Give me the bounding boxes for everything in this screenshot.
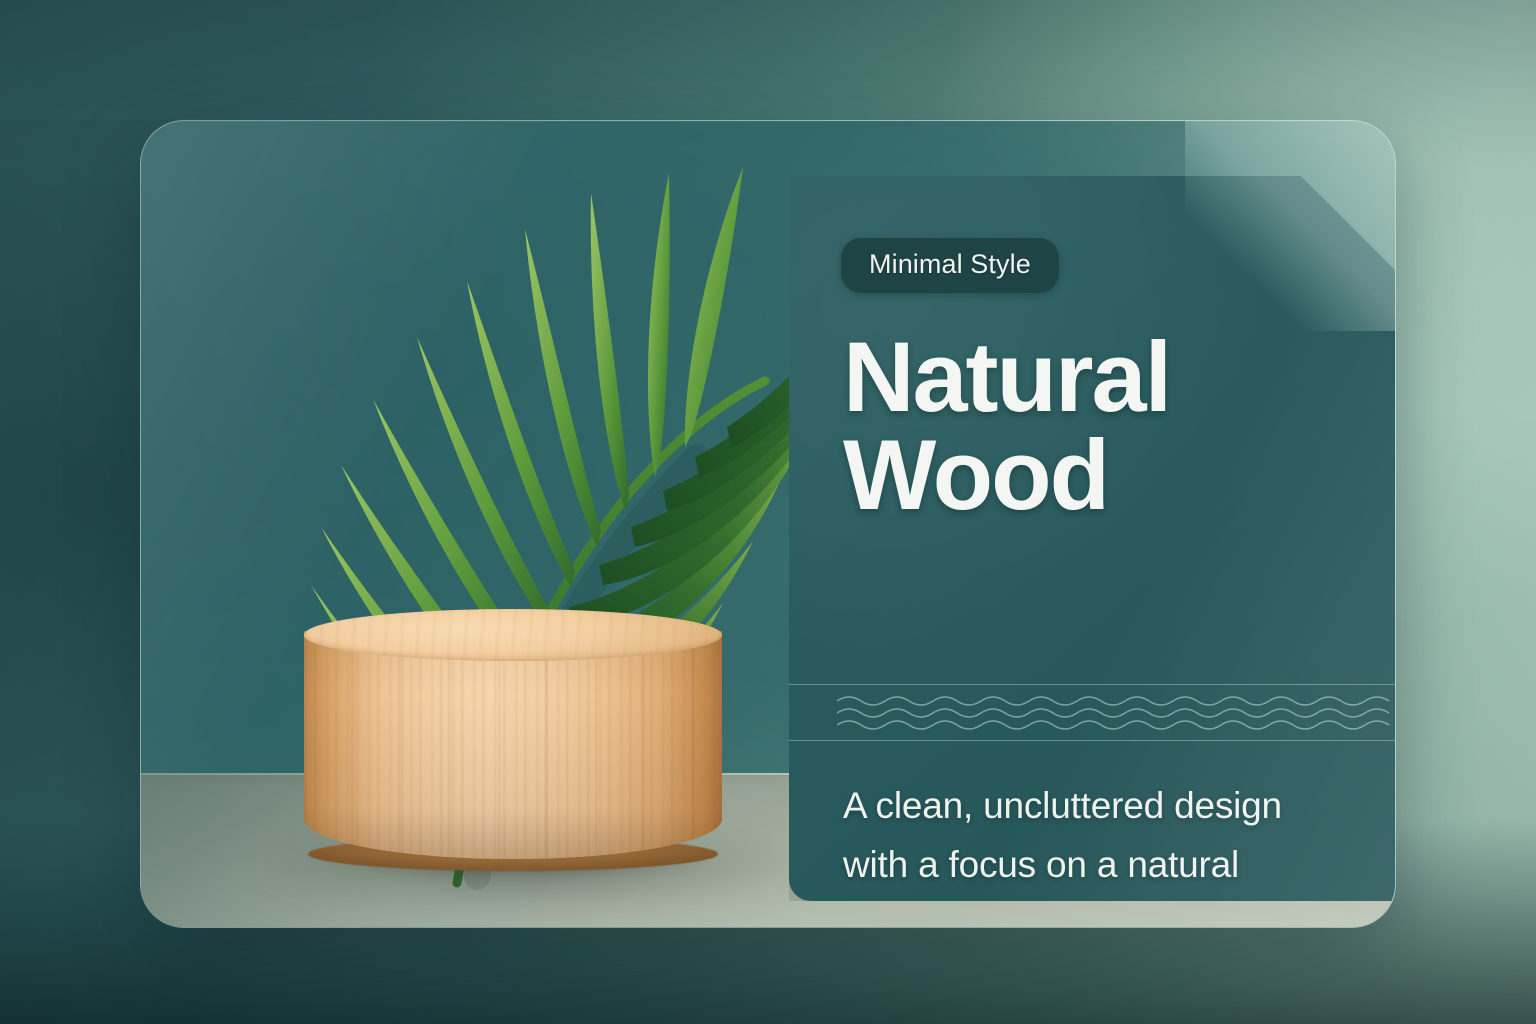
podium-top-surface [304,609,722,661]
wavy-divider [789,684,1396,741]
divider-rule-bottom [789,740,1396,741]
content-panel: Minimal Style Natural Wood [789,176,1396,901]
title-line-2: Wood [843,426,1323,524]
description-line-1: A clean, uncluttered design [843,776,1371,835]
style-badge[interactable]: Minimal Style [841,238,1059,293]
scene: Minimal Style Natural Wood [0,0,1536,1024]
podium-shading [304,631,722,859]
podium-cylinder [304,631,722,859]
title-line-1: Natural [843,328,1323,426]
description-line-2: with a focus on a natural [843,835,1371,894]
divider-rule-top [789,684,1396,685]
glass-card: Minimal Style Natural Wood [140,120,1396,928]
page-title: Natural Wood [843,328,1323,524]
wave-lines [837,690,1396,736]
wooden-podium [304,609,722,881]
